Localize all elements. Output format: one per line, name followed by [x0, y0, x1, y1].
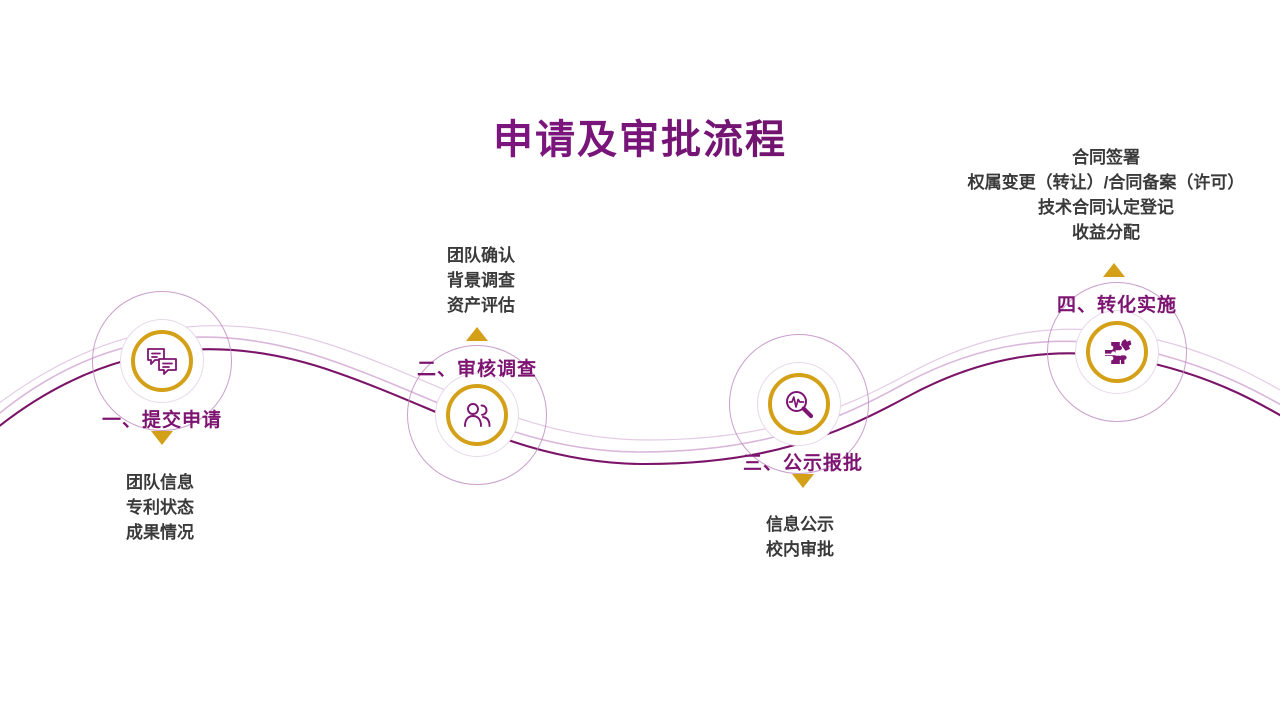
step-4-detail-line-2: 权属变更（转让）/合同备案（许可）	[968, 170, 1245, 195]
chat-bubbles-icon	[131, 330, 193, 392]
step-1-arrow-down-icon	[151, 431, 173, 445]
puzzle-icon	[1086, 321, 1148, 383]
step-2-detail-line-1: 团队确认	[447, 243, 515, 268]
step-4-detail-line-1: 合同签署	[968, 145, 1245, 170]
step-2-detail-line-3: 资产评估	[447, 293, 515, 318]
step-4-detail-line-3: 技术合同认定登记	[968, 195, 1245, 220]
step-2-detail-line-2: 背景调查	[447, 268, 515, 293]
step-3-arrow-down-icon	[792, 474, 814, 488]
step-2-arrow-up-icon	[466, 327, 488, 341]
step-1-details: 团队信息 专利状态 成果情况	[126, 470, 194, 545]
step-4-details: 合同签署 权属变更（转让）/合同备案（许可） 技术合同认定登记 收益分配	[968, 145, 1245, 245]
step-3-label: 三、公示报批	[743, 448, 863, 475]
step-2-label: 二、审核调查	[417, 354, 537, 381]
step-4-arrow-up-icon	[1103, 263, 1125, 277]
step-2-details: 团队确认 背景调查 资产评估	[447, 243, 515, 318]
slide-canvas: 申请及审批流程 一、提交申请 团队信息 专利状态 成果情况	[0, 0, 1280, 720]
step-1-detail-line-1: 团队信息	[126, 470, 194, 495]
people-icon	[446, 384, 508, 446]
step-3-details: 信息公示 校内审批	[766, 512, 834, 562]
step-3-detail-line-1: 信息公示	[766, 512, 834, 537]
step-1-label: 一、提交申请	[102, 405, 222, 432]
magnifier-pulse-icon	[768, 373, 830, 435]
step-1-detail-line-2: 专利状态	[126, 495, 194, 520]
step-3-detail-line-2: 校内审批	[766, 537, 834, 562]
step-1-detail-line-3: 成果情况	[126, 520, 194, 545]
step-4-detail-line-4: 收益分配	[968, 220, 1245, 245]
step-4-label: 四、转化实施	[1057, 290, 1177, 317]
